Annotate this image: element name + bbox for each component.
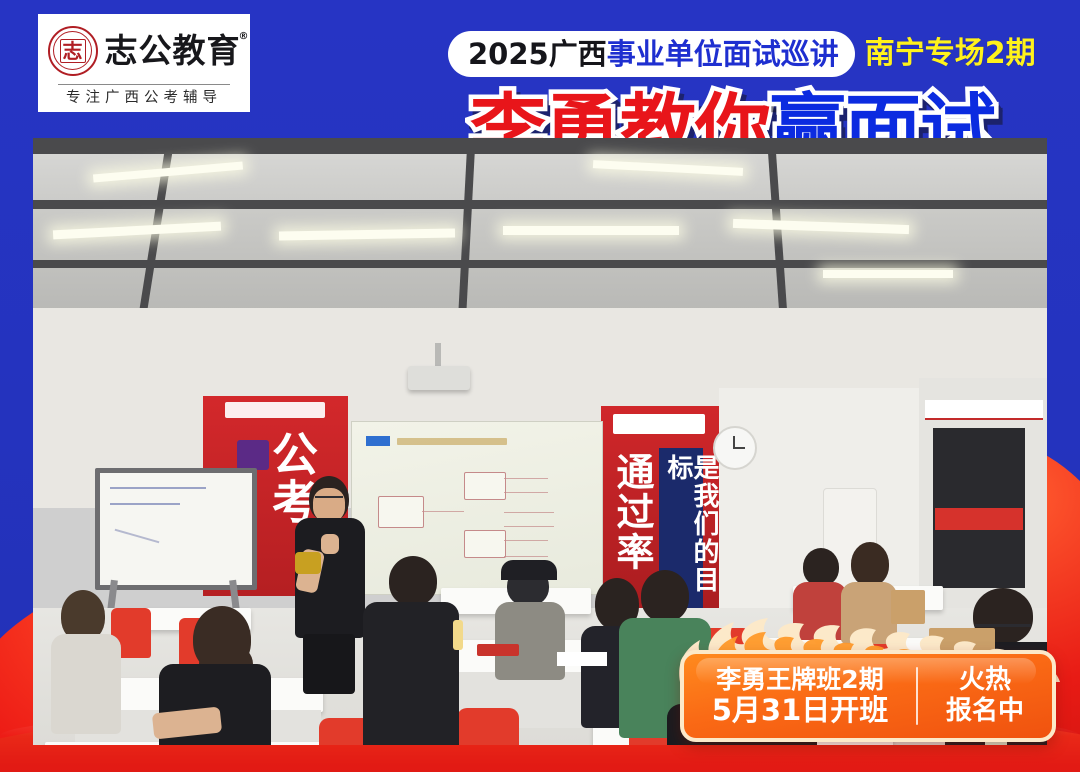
- slide-connector: [504, 556, 548, 557]
- student: [153, 606, 285, 745]
- whiteboard-scribble: [115, 529, 160, 544]
- whiteboard: [95, 468, 257, 590]
- student: [363, 556, 459, 745]
- doorway-banner: [935, 508, 1023, 530]
- ceiling-light-icon: [823, 270, 953, 278]
- slide-node: [378, 496, 424, 528]
- slide-connector: [504, 478, 548, 479]
- brand-name-text: 志公教育: [105, 31, 241, 70]
- slide-connector: [504, 512, 554, 513]
- event-year-region: 2025广西: [468, 40, 607, 69]
- seal-icon: 志: [48, 26, 98, 76]
- event-banner-pill: 2025广西 事业单位面试巡讲: [448, 31, 855, 77]
- student-body: [363, 602, 459, 745]
- water-bottle-icon: [453, 620, 463, 650]
- lecturer-glasses-icon: [315, 496, 343, 502]
- lecturer-legs: [303, 634, 355, 694]
- wall-clock-icon: [713, 426, 757, 470]
- event-name: 事业单位面试巡讲: [607, 40, 839, 69]
- paper-icon: [557, 652, 607, 666]
- projector-icon: [408, 366, 470, 390]
- lecturer: [291, 476, 371, 676]
- door-header-sign: [925, 400, 1043, 420]
- wall-poster-right-main-text: 通过率: [613, 452, 651, 572]
- registered-mark-icon: ®: [239, 32, 250, 42]
- student-body: [51, 634, 121, 734]
- student-head: [803, 548, 839, 586]
- logo-divider: [58, 84, 230, 85]
- student-head: [641, 570, 689, 622]
- lecturer-face: [313, 488, 345, 522]
- wall-poster-right-logo: [613, 414, 705, 434]
- enrollment-badge-left: 李勇王牌班2期 5月31日开班: [684, 666, 916, 726]
- promo-poster: 志 志公教育® 专注广西公考辅导 2025广西 事业单位面试巡讲 南宁专场2期 …: [0, 0, 1080, 772]
- status-badge-line2: 报名中: [946, 697, 1024, 726]
- session-tag-label: 南宁专场2期: [865, 39, 1036, 69]
- brand-slogan: 专注广西公考辅导: [66, 91, 222, 106]
- class-start-date: 5月31日开班: [712, 695, 889, 726]
- event-banner: 2025广西 事业单位面试巡讲 南宁专场2期: [448, 31, 1042, 77]
- photo-beam: [33, 138, 1047, 154]
- slide-node: [464, 530, 506, 558]
- enrollment-badge[interactable]: 李勇王牌班2期 5月31日开班 火热 报名中: [672, 618, 1064, 742]
- whiteboard-scribble: [110, 503, 180, 505]
- whiteboard-scribble: [110, 487, 206, 489]
- slide-title-bar: [397, 438, 507, 445]
- slide-node: [464, 472, 506, 500]
- student-cap-icon: [501, 560, 557, 580]
- class-name: 李勇王牌班2期: [716, 666, 883, 693]
- student-head: [389, 556, 437, 606]
- slide-connector: [504, 526, 554, 527]
- classroom-chair: [457, 708, 519, 745]
- lecturer-hand: [321, 534, 339, 554]
- photo-beam: [33, 200, 1047, 209]
- brand-name: 志公教育®: [105, 34, 241, 67]
- student-head: [851, 542, 889, 586]
- session-tag: 南宁专场2期: [855, 31, 1042, 77]
- slide-connector: [422, 511, 464, 512]
- student: [495, 560, 565, 680]
- brand-logo-card: 志 志公教育® 专注广西公考辅导: [38, 14, 250, 112]
- brand-logo-row: 志 志公教育®: [48, 21, 241, 77]
- status-badge-line1: 火热: [959, 666, 1011, 695]
- ceiling-light-icon: [503, 226, 679, 235]
- student: [51, 590, 121, 745]
- student-body: [495, 602, 565, 680]
- notebook-icon: [477, 644, 519, 656]
- microphone-icon: [295, 552, 321, 574]
- photo-beam: [33, 260, 1047, 268]
- slide-accent: [366, 436, 390, 446]
- seal-character: 志: [60, 39, 86, 63]
- enrollment-badge-body[interactable]: 李勇王牌班2期 5月31日开班 火热 报名中: [680, 650, 1056, 742]
- wall-poster-left-logo: [225, 402, 325, 418]
- slide-connector: [504, 540, 548, 541]
- slide-connector: [504, 492, 548, 493]
- wall-poster-left-badge: [237, 440, 269, 470]
- enrollment-badge-right: 火热 报名中: [918, 666, 1052, 725]
